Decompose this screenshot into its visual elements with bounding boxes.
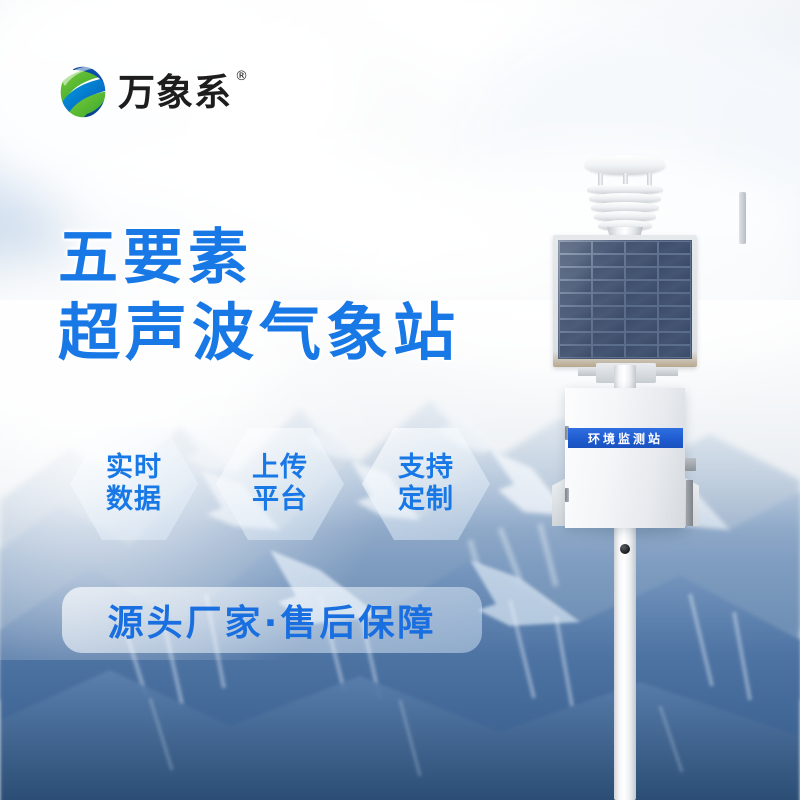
feature-badge-line-2: 平台: [252, 484, 308, 516]
feature-badge-line-1: 支持: [398, 452, 454, 484]
globe-swoosh-logo-icon: [57, 64, 109, 120]
feature-badge-line-2: 数据: [106, 484, 162, 516]
pole-screw-cap: [620, 544, 630, 554]
feature-badge-line-1: 上传: [252, 452, 308, 484]
feature-badge-row: 实时 数据 上传 平台 支持 定制: [70, 428, 490, 540]
brand-name-text: 万象系: [118, 71, 232, 114]
brand-logo: 万象系 ®: [57, 64, 232, 120]
feature-badge-line-2: 定制: [398, 484, 454, 516]
solar-panel: [553, 235, 697, 367]
headline-line-1: 五要素: [58, 222, 460, 295]
solar-panel-sheen: [558, 240, 692, 359]
solar-panel-glass: [558, 240, 692, 359]
headline-line-2: 超声波气象站: [58, 295, 460, 371]
product-poster: 环境监测站: [0, 0, 800, 800]
brand-name: 万象系 ®: [118, 74, 232, 111]
control-box-wing-left: [552, 478, 566, 526]
feature-badge-customization[interactable]: 支持 定制: [362, 428, 490, 540]
guarantee-banner[interactable]: 源头厂家·售后保障: [62, 587, 482, 653]
weather-station-product: 环境监测站: [540, 150, 740, 800]
registered-trademark-icon: ®: [235, 70, 249, 83]
control-box-hinge: [686, 480, 693, 526]
feature-badge-line-1: 实时: [106, 452, 162, 484]
control-box: [565, 388, 685, 528]
control-box-latch: [685, 458, 696, 471]
solar-panel-side-bracket: [739, 192, 746, 244]
guarantee-banner-text: 源头厂家·售后保障: [108, 594, 437, 646]
control-box-vent: [565, 488, 569, 502]
feature-badge-realtime-data[interactable]: 实时 数据: [70, 428, 198, 540]
headline-block: 五要素 超声波气象站: [58, 222, 460, 371]
control-box-label-text: 环境监测站: [588, 430, 663, 447]
control-box-label: 环境监测站: [568, 428, 683, 448]
sensor-cap: [585, 155, 665, 175]
feature-badge-upload-platform[interactable]: 上传 平台: [216, 428, 344, 540]
